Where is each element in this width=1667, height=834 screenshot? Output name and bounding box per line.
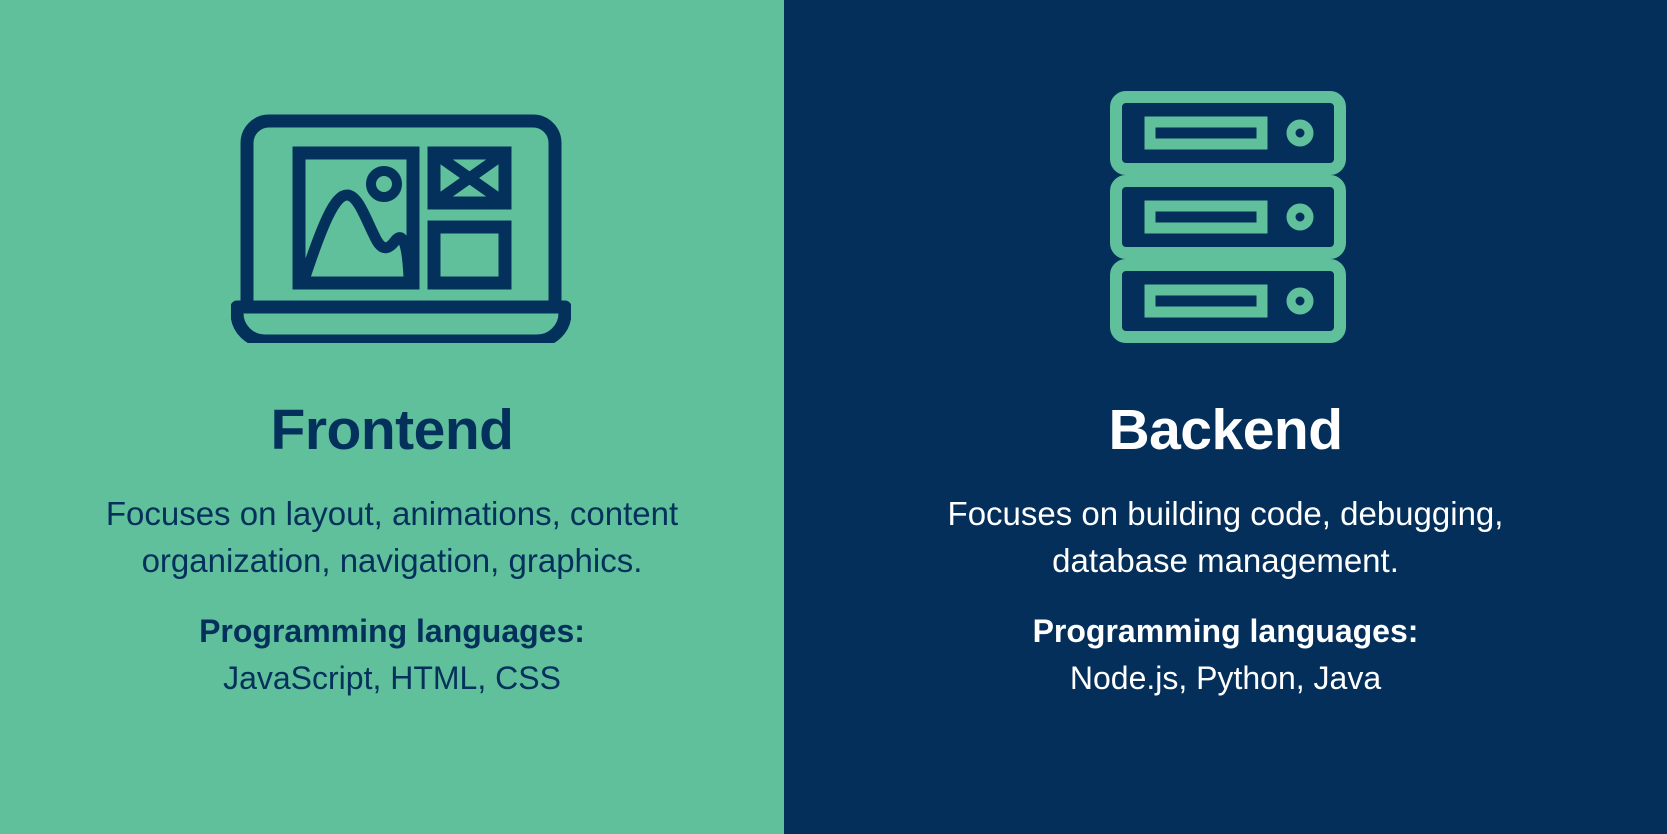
- laptop-wireframe-icon: [221, 86, 581, 348]
- backend-languages-label: Programming languages:: [1033, 611, 1419, 653]
- server-stack-icon: [1078, 86, 1378, 348]
- backend-languages-list: Node.js, Python, Java: [1070, 658, 1381, 700]
- frontend-languages-list: JavaScript, HTML, CSS: [223, 658, 561, 700]
- frontend-languages-label: Programming languages:: [199, 611, 585, 653]
- frontend-description: Focuses on layout, animations, content o…: [52, 491, 732, 585]
- backend-panel: Backend Focuses on building code, debugg…: [784, 0, 1667, 834]
- backend-description: Focuses on building code, debugging, dat…: [876, 491, 1576, 585]
- frontend-panel: Frontend Focuses on layout, animations, …: [0, 0, 784, 834]
- frontend-backend-comparison: Frontend Focuses on layout, animations, …: [0, 0, 1667, 834]
- page-title: Frontend: [271, 402, 514, 459]
- page-title: Backend: [1108, 402, 1342, 459]
